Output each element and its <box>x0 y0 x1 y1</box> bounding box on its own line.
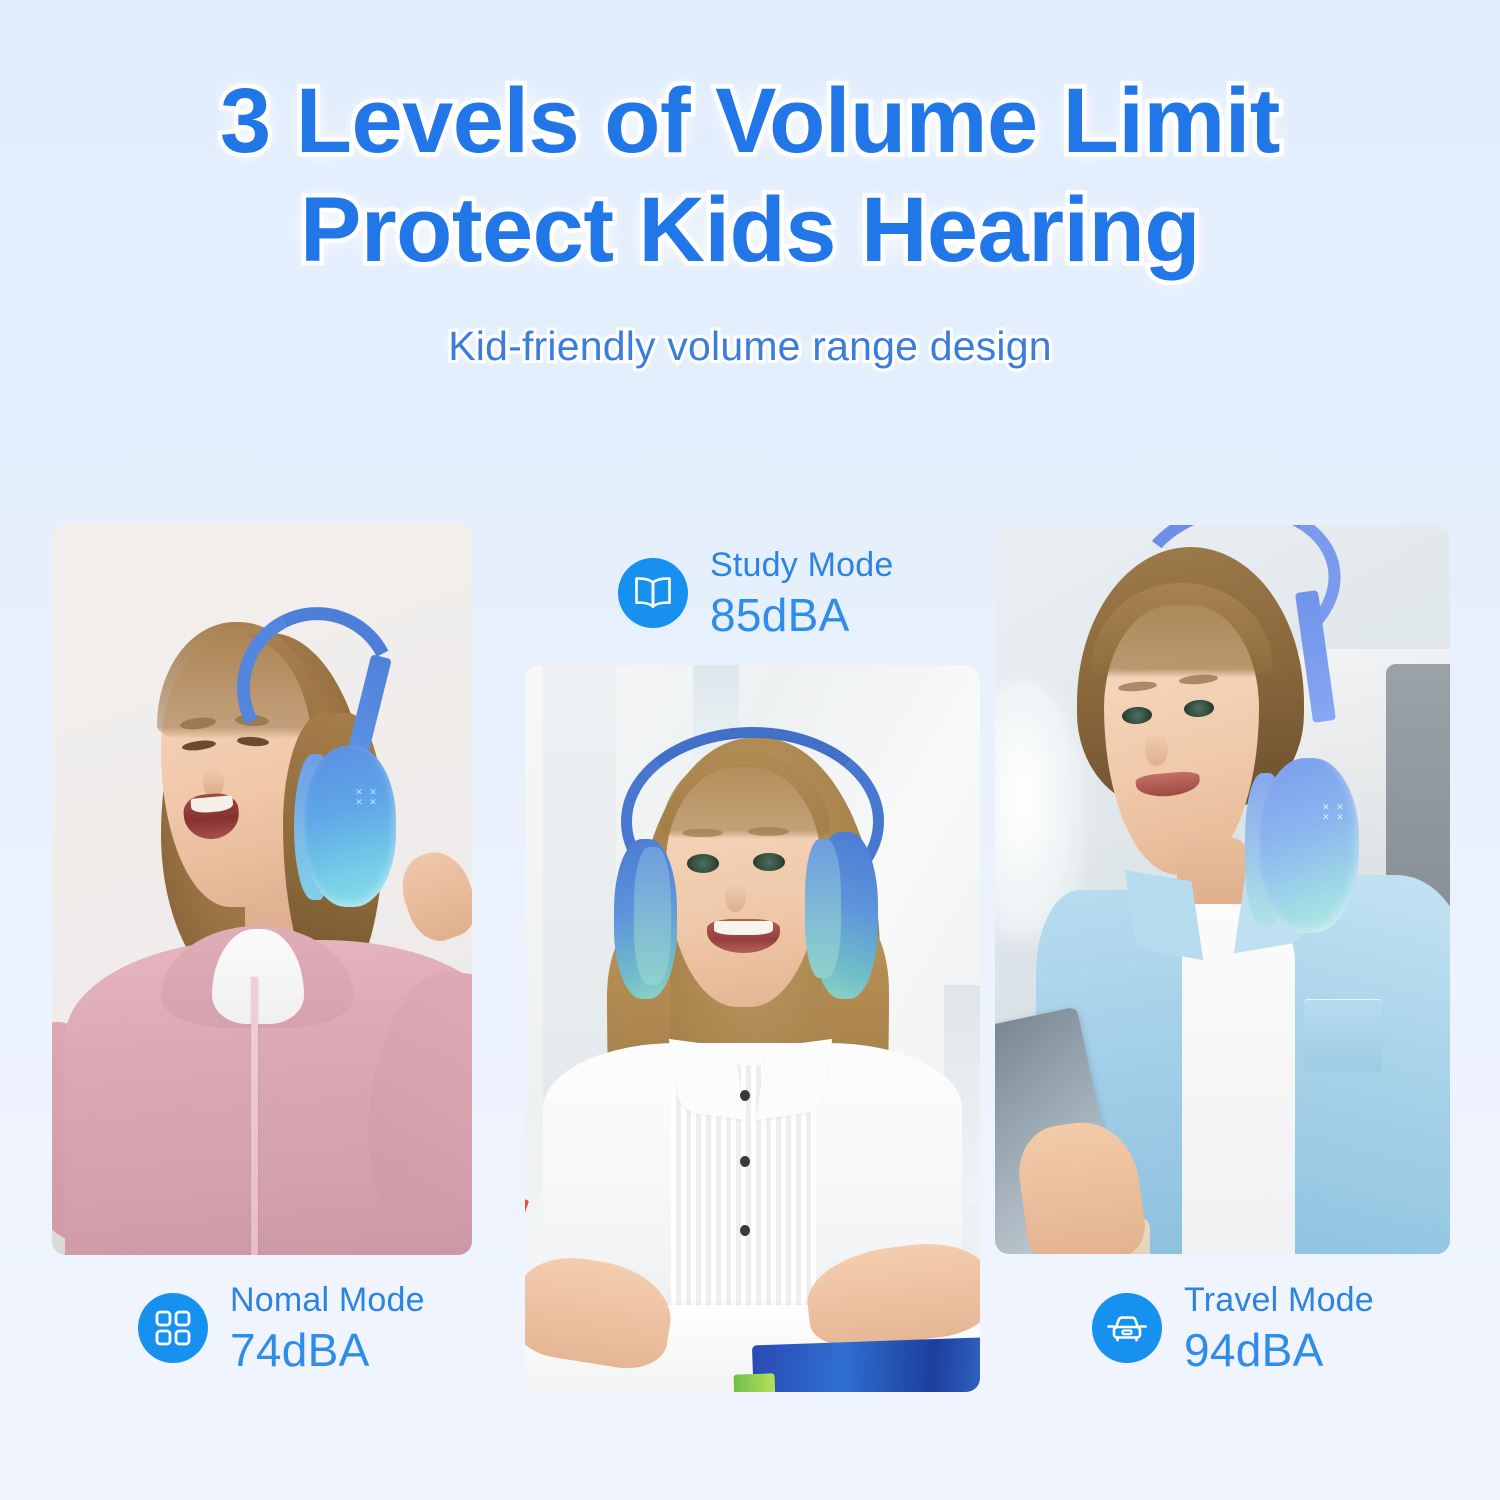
travel-mode-photo: ✕ ✕✕ ✕ <box>995 525 1450 1254</box>
grid-four-squares-icon <box>138 1293 208 1363</box>
mode-value: 74dBA <box>230 1327 425 1373</box>
mode-badge-travel: Travel Mode 94dBA <box>1092 1283 1374 1373</box>
mode-badge-text: Study Mode 85dBA <box>710 548 893 638</box>
mode-name: Nomal Mode <box>230 1283 425 1317</box>
page-subtitle: Kid-friendly volume range design <box>0 323 1500 370</box>
normal-mode-scene: ✕ ✕✕ ✕ <box>52 523 472 1255</box>
mode-badge-normal: Nomal Mode 74dBA <box>138 1283 425 1373</box>
mode-badge-study: Study Mode 85dBA <box>618 548 893 638</box>
mode-name: Study Mode <box>710 548 893 582</box>
mode-value: 85dBA <box>710 592 893 638</box>
mode-badge-text: Nomal Mode 74dBA <box>230 1283 425 1373</box>
headline-block: 3 Levels of Volume Limit Protect Kids He… <box>0 0 1500 370</box>
study-mode-photo <box>525 665 980 1392</box>
travel-mode-scene: ✕ ✕✕ ✕ <box>995 525 1450 1254</box>
headline-line-1: 3 Levels of Volume Limit <box>0 68 1500 175</box>
mode-badge-text: Travel Mode 94dBA <box>1184 1283 1374 1373</box>
mode-name: Travel Mode <box>1184 1283 1374 1317</box>
normal-mode-photo: ✕ ✕✕ ✕ <box>52 523 472 1255</box>
product-feature-banner: 3 Levels of Volume Limit Protect Kids He… <box>0 0 1500 1500</box>
headline-line-2: Protect Kids Hearing <box>0 177 1500 284</box>
study-mode-scene <box>525 665 980 1392</box>
book-icon <box>618 558 688 628</box>
mode-value: 94dBA <box>1184 1327 1374 1373</box>
car-icon <box>1092 1293 1162 1363</box>
page-title: 3 Levels of Volume Limit Protect Kids He… <box>0 68 1500 283</box>
